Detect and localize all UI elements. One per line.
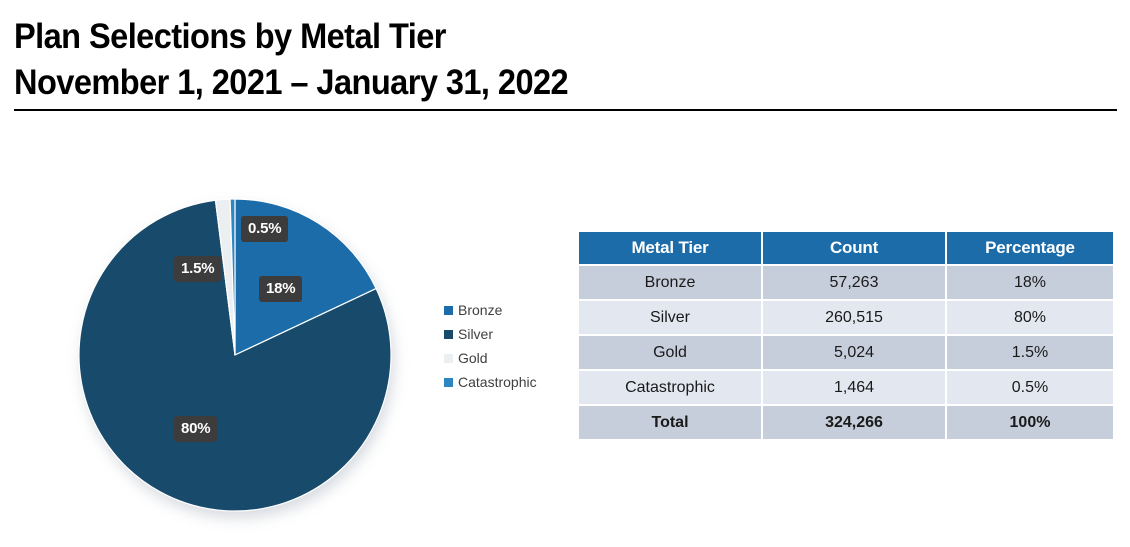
title-divider [14, 109, 1117, 111]
legend-item-silver[interactable]: Silver [444, 322, 564, 346]
page-title: Plan Selections by Metal Tier November 1… [14, 14, 1116, 106]
cell-metal-tier: Silver [579, 301, 761, 334]
legend-swatch-icon [444, 306, 453, 315]
table-row: Bronze57,26318% [579, 266, 1113, 299]
cell-metal-tier: Bronze [579, 266, 761, 299]
cell-metal-tier: Gold [579, 336, 761, 369]
pie-graphic: 0.5% 1.5% 18% 80% [70, 170, 400, 510]
column-header-metal-tier: Metal Tier [579, 232, 761, 264]
legend-item-label: Catastrophic [458, 374, 537, 390]
cell-total-percentage: 100% [947, 406, 1113, 439]
legend-item-label: Bronze [458, 302, 502, 318]
chart-legend: BronzeSilverGoldCatastrophic [444, 298, 564, 394]
column-header-count: Count [763, 232, 945, 264]
table-row: Catastrophic1,4640.5% [579, 371, 1113, 404]
table-row: Silver260,51580% [579, 301, 1113, 334]
pie-label-gold: 1.5% [174, 256, 221, 282]
table-header-row: Metal Tier Count Percentage [579, 232, 1113, 264]
table-total-row: Total324,266100% [579, 406, 1113, 439]
cell-percentage: 0.5% [947, 371, 1113, 404]
cell-count: 57,263 [763, 266, 945, 299]
cell-count: 1,464 [763, 371, 945, 404]
cell-count: 260,515 [763, 301, 945, 334]
table-header: Metal Tier Count Percentage [579, 232, 1113, 264]
pie-label-bronze: 18% [259, 276, 302, 302]
legend-item-gold[interactable]: Gold [444, 346, 564, 370]
legend-item-label: Silver [458, 326, 493, 342]
page-title-line-1: Plan Selections by Metal Tier [14, 14, 1039, 60]
pie-slices-svg [70, 190, 400, 520]
legend-item-bronze[interactable]: Bronze [444, 298, 564, 322]
pie-label-catastrophic: 0.5% [241, 216, 288, 242]
table-row: Gold5,0241.5% [579, 336, 1113, 369]
legend-item-catastrophic[interactable]: Catastrophic [444, 370, 564, 394]
cell-metal-tier: Catastrophic [579, 371, 761, 404]
cell-count: 5,024 [763, 336, 945, 369]
cell-total-label: Total [579, 406, 761, 439]
pie-chart: 0.5% 1.5% 18% 80% BronzeSilverGoldCatast… [0, 150, 570, 530]
legend-swatch-icon [444, 330, 453, 339]
legend-swatch-icon [444, 354, 453, 363]
cell-percentage: 1.5% [947, 336, 1113, 369]
legend-swatch-icon [444, 378, 453, 387]
page-title-line-2: November 1, 2021 – January 31, 2022 [14, 60, 1039, 106]
cell-percentage: 80% [947, 301, 1113, 334]
column-header-percentage: Percentage [947, 232, 1113, 264]
cell-total-count: 324,266 [763, 406, 945, 439]
metal-tier-table: Metal Tier Count Percentage Bronze57,263… [577, 230, 1115, 441]
cell-percentage: 18% [947, 266, 1113, 299]
legend-item-label: Gold [458, 350, 488, 366]
pie-label-silver: 80% [174, 416, 217, 442]
table-body: Bronze57,26318%Silver260,51580%Gold5,024… [579, 266, 1113, 439]
